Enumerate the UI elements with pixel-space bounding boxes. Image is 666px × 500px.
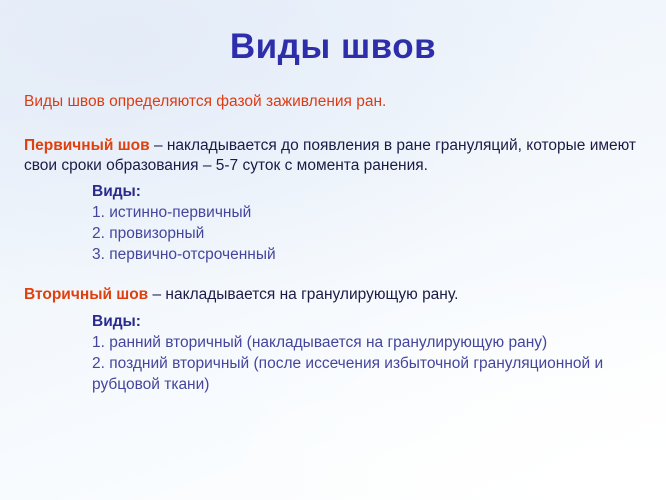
sublist-heading: Виды:	[92, 311, 644, 332]
section-primary-suture: Первичный шов – накладывается до появлен…	[24, 136, 644, 265]
section-term: Первичный шов	[24, 137, 150, 154]
section-spacer	[24, 265, 644, 285]
slide-title: Виды швов	[0, 28, 666, 67]
sublist-heading: Виды:	[92, 181, 644, 202]
slide-body: Виды швов определяются фазой заживления …	[24, 92, 644, 395]
list-item: 3. первично-отсроченный	[92, 244, 644, 265]
section-sublist: Виды: 1. истинно-первичный 2. провизорны…	[92, 181, 644, 265]
slide-canvas: Виды швов Виды швов определяются фазой з…	[0, 0, 666, 500]
list-item: 2. поздний вторичный (после иссечения из…	[92, 353, 644, 395]
list-item: 1. истинно-первичный	[92, 202, 644, 223]
list-item: 1. ранний вторичный (накладывается на гр…	[92, 332, 644, 353]
section-term: Вторичный шов	[24, 286, 148, 303]
section-sublist: Виды: 1. ранний вторичный (накладывается…	[92, 311, 644, 395]
section-paragraph: Вторичный шов – накладывается на гранули…	[24, 285, 644, 305]
list-item: 2. провизорный	[92, 223, 644, 244]
section-definition: – накладывается на гранулирующую рану.	[148, 286, 458, 303]
section-secondary-suture: Вторичный шов – накладывается на гранули…	[24, 285, 644, 395]
lead-statement: Виды швов определяются фазой заживления …	[24, 92, 644, 112]
section-paragraph: Первичный шов – накладывается до появлен…	[24, 136, 644, 175]
